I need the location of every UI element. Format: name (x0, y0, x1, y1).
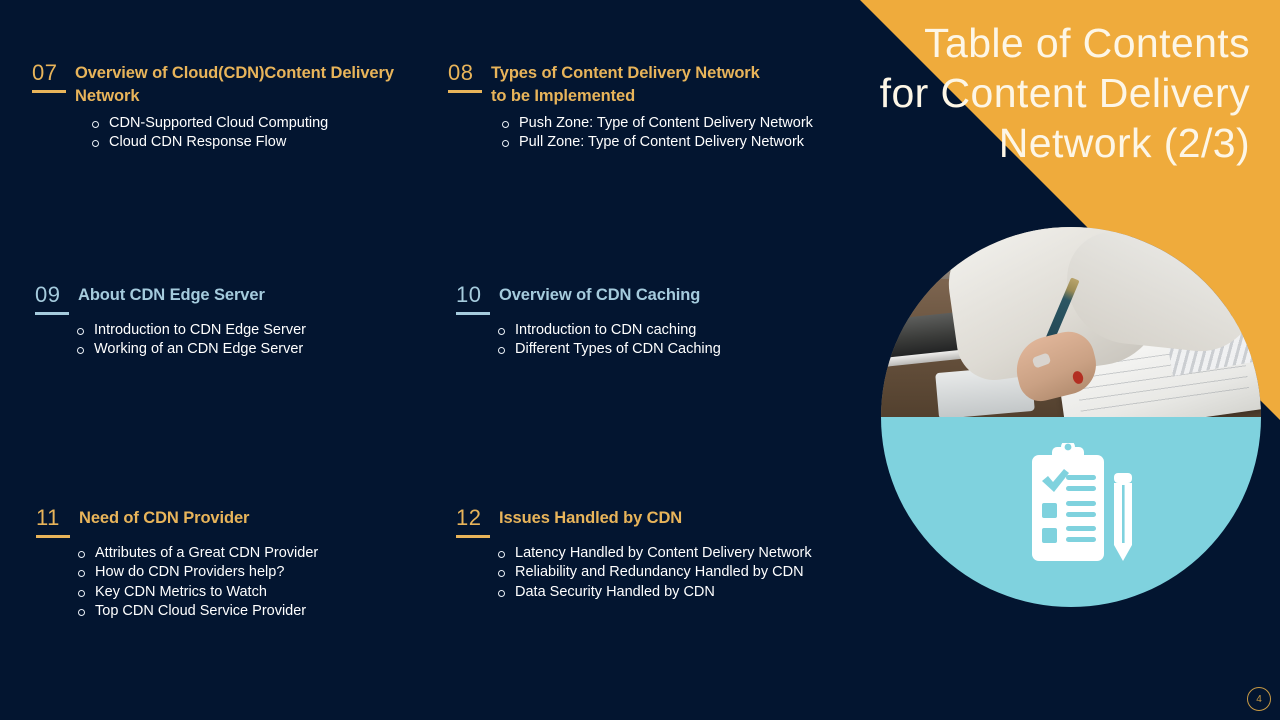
slide-canvas: Table of Contents for Content Delivery N… (0, 0, 1280, 720)
title-line-3: Network (2/3) (650, 118, 1250, 168)
toc-entry-11-bullets: Attributes of a Great CDN Provider How d… (36, 544, 416, 622)
title-line-2: for Content Delivery (650, 68, 1250, 118)
toc-entry-12-heading: Issues Handled by CDN (499, 507, 682, 530)
list-item[interactable]: Working of an CDN Edge Server (75, 340, 415, 359)
toc-entry-09-rule (35, 312, 69, 315)
title-line-1: Table of Contents (650, 18, 1250, 68)
toc-entry-07-number-group: 07 (32, 62, 66, 93)
list-item[interactable]: Introduction to CDN caching (496, 321, 836, 340)
toc-entry-10[interactable]: 10 Overview of CDN Caching Introduction … (456, 284, 836, 360)
toc-entry-10-rule (456, 312, 490, 315)
toc-entry-11[interactable]: 11 Need of CDN Provider Attributes of a … (36, 507, 416, 622)
toc-entry-11-head: 11 Need of CDN Provider (36, 507, 416, 538)
list-item[interactable]: CDN-Supported Cloud Computing (90, 114, 412, 133)
clipboard-checklist-pencil-icon (1030, 443, 1138, 563)
list-item[interactable]: Different Types of CDN Caching (496, 340, 836, 359)
toc-entry-07-rule (32, 90, 66, 93)
toc-entry-10-head: 10 Overview of CDN Caching (456, 284, 836, 315)
toc-entry-10-bullets: Introduction to CDN caching Different Ty… (456, 321, 836, 360)
toc-entry-12-number: 12 (456, 507, 481, 529)
page-number-value: 4 (1256, 694, 1262, 705)
toc-entry-09-heading: About CDN Edge Server (78, 284, 265, 307)
toc-entry-08-number-group: 08 (448, 62, 482, 93)
toc-entry-10-number: 10 (456, 284, 481, 306)
desk-photo (881, 227, 1261, 417)
toc-entry-11-heading: Need of CDN Provider (79, 507, 249, 530)
toc-entry-07-heading: Overview of Cloud(CDN)Content Delivery N… (75, 62, 412, 108)
list-item[interactable]: Key CDN Metrics to Watch (76, 583, 416, 602)
toc-entry-08-rule (448, 90, 482, 93)
toc-entry-12-number-group: 12 (456, 507, 490, 538)
toc-entry-08-number: 08 (448, 62, 473, 84)
toc-entry-07-head: 07 Overview of Cloud(CDN)Content Deliver… (32, 62, 412, 108)
toc-entry-11-rule (36, 535, 70, 538)
list-item[interactable]: Latency Handled by Content Delivery Netw… (496, 544, 856, 563)
toc-entry-12[interactable]: 12 Issues Handled by CDN Latency Handled… (456, 507, 856, 602)
toc-entry-12-rule (456, 535, 490, 538)
toc-entry-12-head: 12 Issues Handled by CDN (456, 507, 856, 538)
list-item[interactable]: Top CDN Cloud Service Provider (76, 602, 416, 621)
toc-entry-07[interactable]: 07 Overview of Cloud(CDN)Content Deliver… (32, 62, 412, 153)
list-item[interactable]: Introduction to CDN Edge Server (75, 321, 415, 340)
list-item[interactable]: How do CDN Providers help? (76, 563, 416, 582)
page-number-badge: 4 (1247, 687, 1271, 711)
page-title: Table of Contents for Content Delivery N… (650, 18, 1250, 168)
list-item[interactable]: Attributes of a Great CDN Provider (76, 544, 416, 563)
toc-entry-09-bullets: Introduction to CDN Edge Server Working … (35, 321, 415, 360)
toc-entry-10-number-group: 10 (456, 284, 490, 315)
toc-entry-09[interactable]: 09 About CDN Edge Server Introduction to… (35, 284, 415, 360)
list-item[interactable]: Reliability and Redundancy Handled by CD… (496, 563, 856, 582)
toc-entry-11-number-group: 11 (36, 507, 70, 538)
toc-entry-10-heading: Overview of CDN Caching (499, 284, 700, 307)
toc-entry-11-number: 11 (36, 507, 60, 529)
list-item[interactable]: Cloud CDN Response Flow (90, 133, 412, 152)
toc-entry-09-head: 09 About CDN Edge Server (35, 284, 415, 315)
toc-entry-07-number: 07 (32, 62, 57, 84)
toc-entry-09-number-group: 09 (35, 284, 69, 315)
toc-entry-12-bullets: Latency Handled by Content Delivery Netw… (456, 544, 856, 602)
list-item[interactable]: Data Security Handled by CDN (496, 583, 856, 602)
toc-entry-07-bullets: CDN-Supported Cloud Computing Cloud CDN … (32, 114, 412, 153)
toc-entry-09-number: 09 (35, 284, 60, 306)
